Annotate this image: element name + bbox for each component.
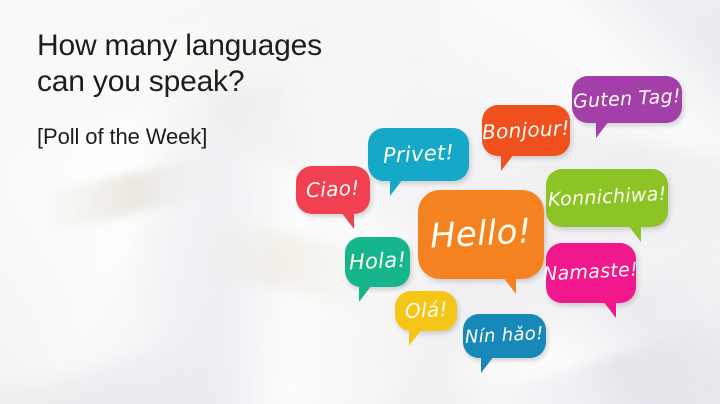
slide-canvas: How many languages can you speak? [Poll … bbox=[0, 0, 720, 404]
speech-bubble-hello: Hello! bbox=[418, 190, 544, 279]
speech-bubble-namaste: Namaste! bbox=[546, 243, 636, 303]
speech-bubble-label: Ciao! bbox=[306, 176, 361, 203]
speech-bubble-cluster: Ciao! Privet! Bonjour! Guten Tag! Konnic… bbox=[0, 0, 720, 404]
speech-bubble-hola: Hola! bbox=[345, 237, 410, 287]
speech-bubble-label: Privet! bbox=[382, 140, 454, 168]
speech-bubble-bonjour: Bonjour! bbox=[482, 105, 570, 156]
speech-bubble-guten-tag: Guten Tag! bbox=[572, 76, 682, 123]
speech-bubble-konnichiwa: Konnichiwa! bbox=[546, 169, 668, 227]
speech-bubble-label: Hola! bbox=[348, 248, 406, 275]
speech-bubble-label: Olá! bbox=[404, 297, 448, 323]
speech-bubble-label: Namaste! bbox=[543, 259, 639, 286]
speech-bubble-label: Nín hǎo! bbox=[465, 322, 545, 347]
speech-bubble-label: Konnichiwa! bbox=[547, 183, 667, 211]
speech-bubble-nin-hao: Nín hǎo! bbox=[463, 314, 546, 358]
speech-bubble-privet: Privet! bbox=[368, 128, 469, 181]
speech-bubble-label: Guten Tag! bbox=[572, 85, 681, 113]
speech-bubble-ciao: Ciao! bbox=[296, 166, 370, 214]
speech-bubble-ola: Olá! bbox=[395, 291, 457, 331]
speech-bubble-label: Hello! bbox=[429, 211, 533, 256]
speech-bubble-label: Bonjour! bbox=[482, 115, 571, 144]
